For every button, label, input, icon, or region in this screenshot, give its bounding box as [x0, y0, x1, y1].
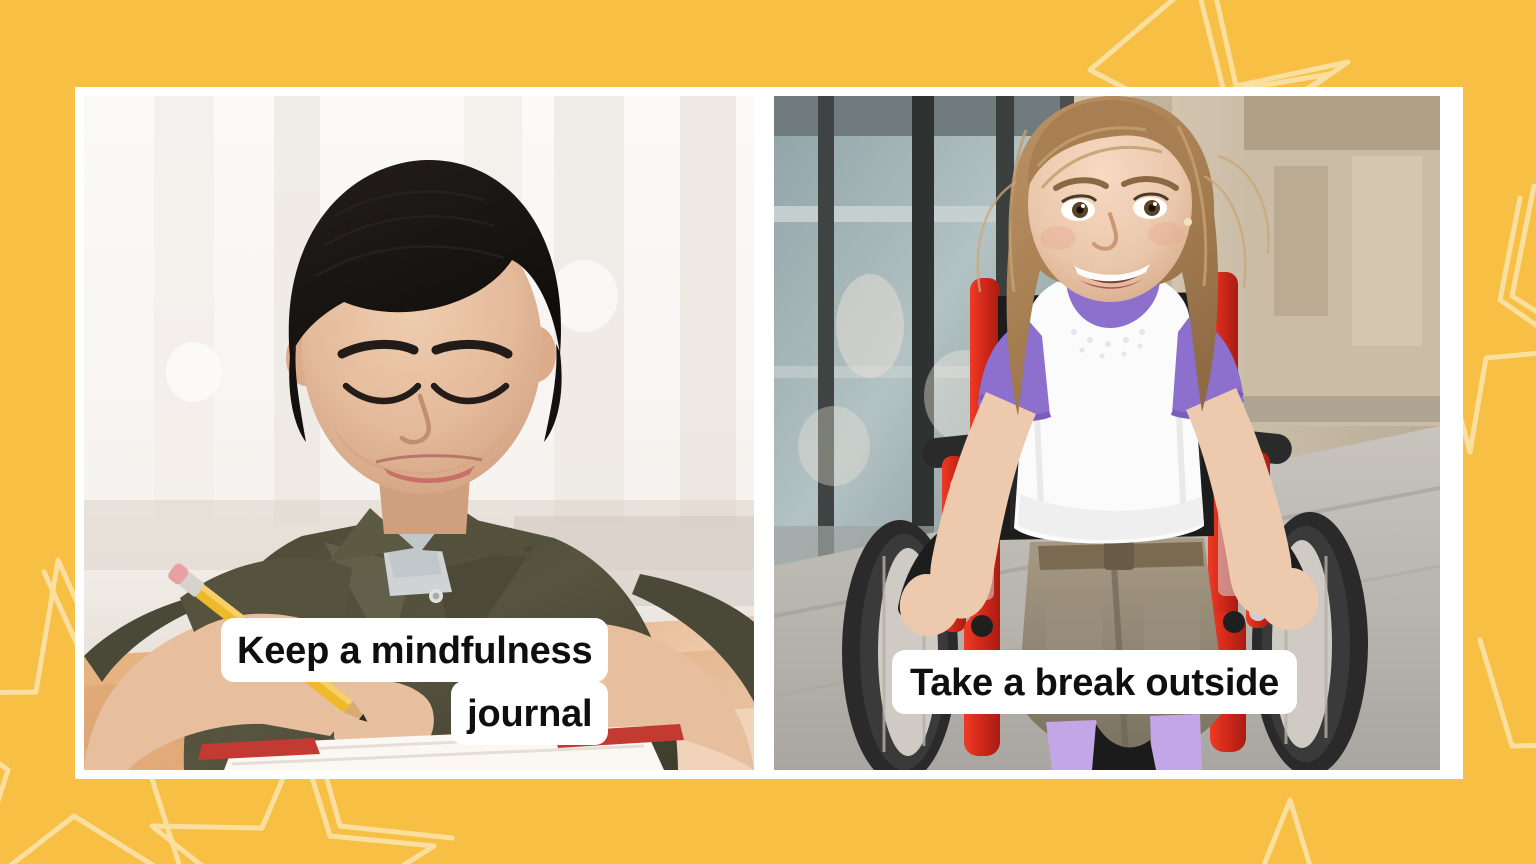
caption-mindfulness-journal: Keep a mindfulness journal: [221, 618, 608, 745]
caption-line-1: Keep a mindfulness: [221, 618, 608, 682]
caption-line-2: journal: [451, 681, 608, 745]
photo-mindfulness-journal[interactable]: Keep a mindfulness journal: [84, 96, 754, 770]
photo-break-outside[interactable]: Take a break outside: [774, 96, 1440, 770]
caption-line-1: Take a break outside: [892, 650, 1297, 714]
photo-card-frame: Keep a mindfulness journal: [75, 87, 1463, 779]
caption-break-outside: Take a break outside: [892, 650, 1297, 714]
slide-canvas: Keep a mindfulness journal: [0, 0, 1536, 864]
